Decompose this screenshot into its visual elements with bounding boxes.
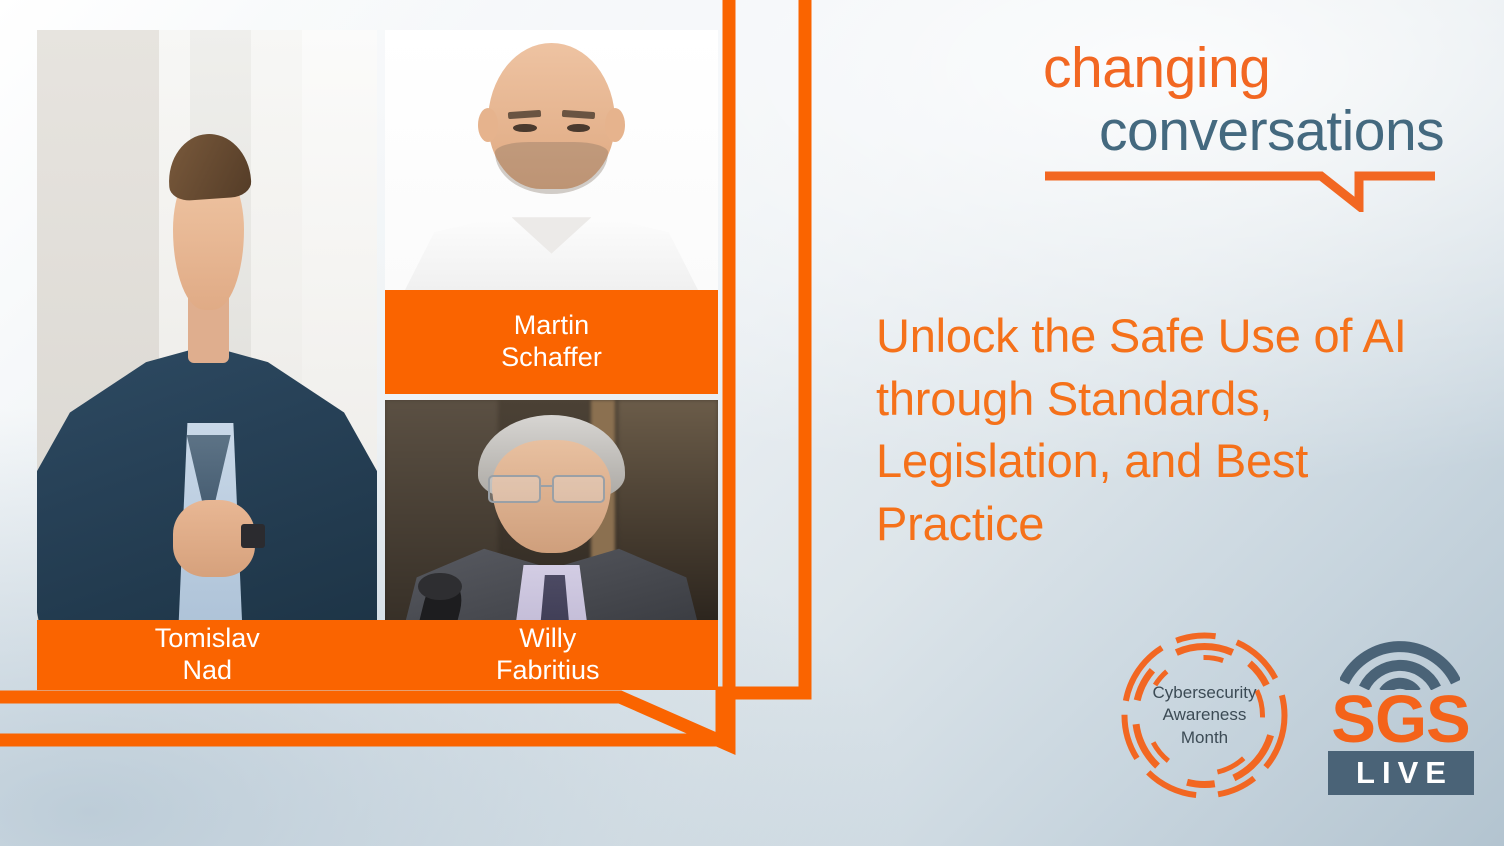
speaker-first-name: Martin <box>514 310 590 342</box>
speaker-namebar-tomislav-nad: Tomislav Nad <box>37 620 378 690</box>
logo-line-changing: changing <box>1043 40 1461 97</box>
speaker-namebar-martin-schaffer: Martin Schaffer <box>385 290 718 394</box>
badge-line-3: Month <box>1181 727 1228 749</box>
sgs-wordmark: SGS <box>1318 686 1483 753</box>
sgs-live-bar: LIVE <box>1328 751 1474 795</box>
speaker-photo-willy-fabritius <box>385 400 718 650</box>
speaker-namebar-willy-fabritius: Willy Fabritius <box>378 620 719 690</box>
speaker-photo-willy-fabritius-wrap <box>385 400 718 650</box>
collage-column-left <box>37 30 377 690</box>
cybersecurity-awareness-month-badge: Cybersecurity Awareness Month <box>1117 628 1292 803</box>
badge-line-2: Awareness <box>1163 704 1247 726</box>
page-title: Unlock the Safe Use of AI through Standa… <box>876 305 1456 555</box>
changing-conversations-logo: changing conversations <box>1043 40 1461 160</box>
speaker-first-name: Tomislav <box>155 623 260 655</box>
speaker-last-name: Fabritius <box>496 655 600 687</box>
sgs-live-logo: SGS LIVE <box>1318 638 1483 803</box>
promo-slide: Martin Schaffer <box>0 0 1504 846</box>
speaker-last-name: Schaffer <box>501 342 602 374</box>
logo-line-conversations: conversations <box>1043 103 1461 160</box>
speaker-namebar-bottom: Tomislav Nad Willy Fabritius <box>37 620 718 690</box>
speaker-photo-martin-schaffer <box>385 30 718 290</box>
speech-bubble-rule-icon <box>1043 170 1437 212</box>
badge-line-1: Cybersecurity <box>1153 682 1257 704</box>
speaker-first-name: Willy <box>519 623 576 655</box>
speaker-photo-tomislav-nad <box>37 30 377 625</box>
cybersecurity-badge-text: Cybersecurity Awareness Month <box>1117 628 1292 803</box>
speaker-last-name: Nad <box>182 655 232 687</box>
speaker-photo-collage: Martin Schaffer <box>37 30 718 690</box>
